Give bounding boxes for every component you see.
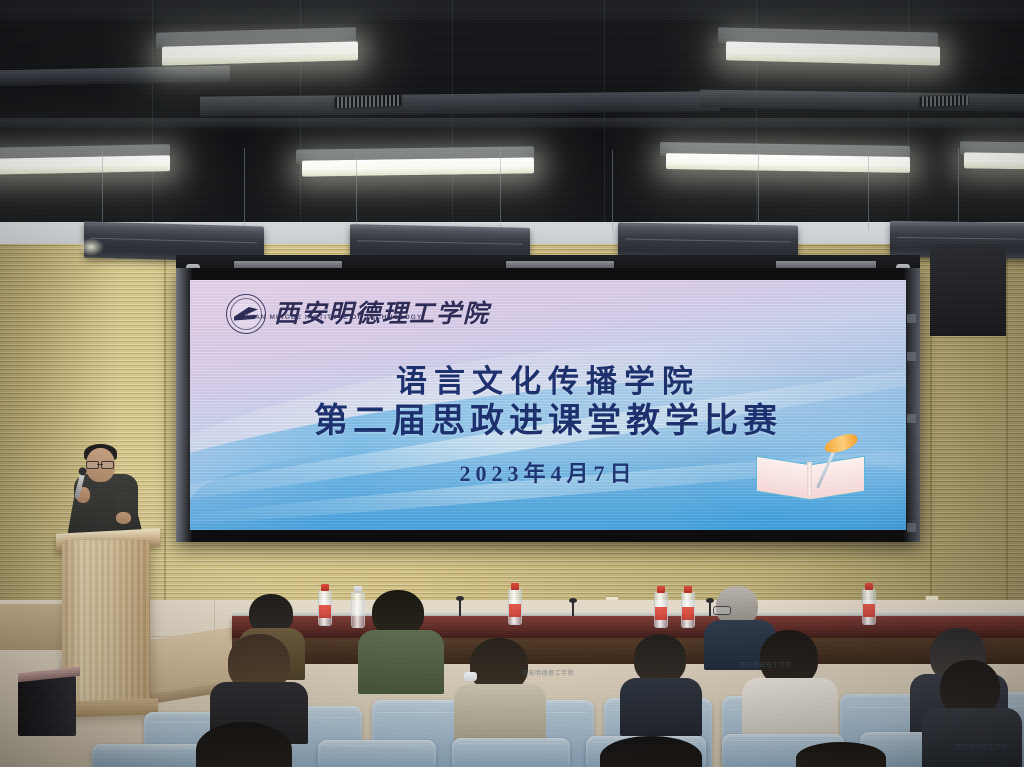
ceiling xyxy=(0,0,1024,232)
ceiling-light xyxy=(162,41,358,65)
ceiling-light xyxy=(666,153,910,173)
water-bottle xyxy=(508,589,522,625)
speaker-hand xyxy=(116,512,131,524)
slide-surface: 西安明德理工学院 XI'AN MINGDE INSTITUTE OF TECHN… xyxy=(190,280,906,530)
air-vent-icon xyxy=(335,95,401,108)
ceiling-light xyxy=(726,41,940,65)
glasses-icon xyxy=(713,606,731,615)
water-bottle xyxy=(654,592,668,628)
auditorium-photo: 西安明德理工学院 XI'AN MINGDE INSTITUTE OF TECHN… xyxy=(0,0,1024,767)
seat-brand-text: 西安明德理工学院 xyxy=(956,742,1008,751)
desk-microphone-icon xyxy=(572,602,574,616)
water-bottle xyxy=(351,592,365,628)
seat-brand-text: 西安明德理工学院 xyxy=(740,660,792,669)
water-bottle xyxy=(681,592,695,628)
auditorium-seat[interactable] xyxy=(318,740,436,767)
bezel-highlight xyxy=(904,268,920,542)
glasses-icon xyxy=(86,461,114,467)
desk-microphone-icon xyxy=(709,602,711,616)
auditorium-seat[interactable] xyxy=(452,738,570,767)
wall-recess xyxy=(930,244,1006,336)
stage-monitor xyxy=(18,676,76,736)
water-bottle xyxy=(318,590,332,626)
ceiling-light xyxy=(964,152,1024,169)
ceiling-light xyxy=(0,155,170,175)
slide-title-line1: 语言文化传播学院 xyxy=(190,364,906,400)
air-vent-icon xyxy=(920,95,968,107)
slide-title-line2: 第二届思政进课堂教学比赛 xyxy=(190,402,906,441)
slide-title: 语言文化传播学院 第二届思政进课堂教学比赛 xyxy=(190,364,906,441)
face-mask-icon xyxy=(464,672,477,681)
led-screen[interactable]: 西安明德理工学院 XI'AN MINGDE INSTITUTE OF TECHN… xyxy=(176,268,920,542)
institution-name-en: XI'AN MINGDE INSTITUTE OF TECHNOLOGY xyxy=(244,314,422,321)
judges-table-skirt xyxy=(232,638,1024,664)
water-bottle xyxy=(862,589,876,625)
desk-microphone-icon xyxy=(459,600,461,616)
auditorium-seat[interactable] xyxy=(92,744,204,767)
open-book-icon xyxy=(754,448,872,510)
seat-brand-text: 西安明德理工学院 xyxy=(522,668,574,677)
